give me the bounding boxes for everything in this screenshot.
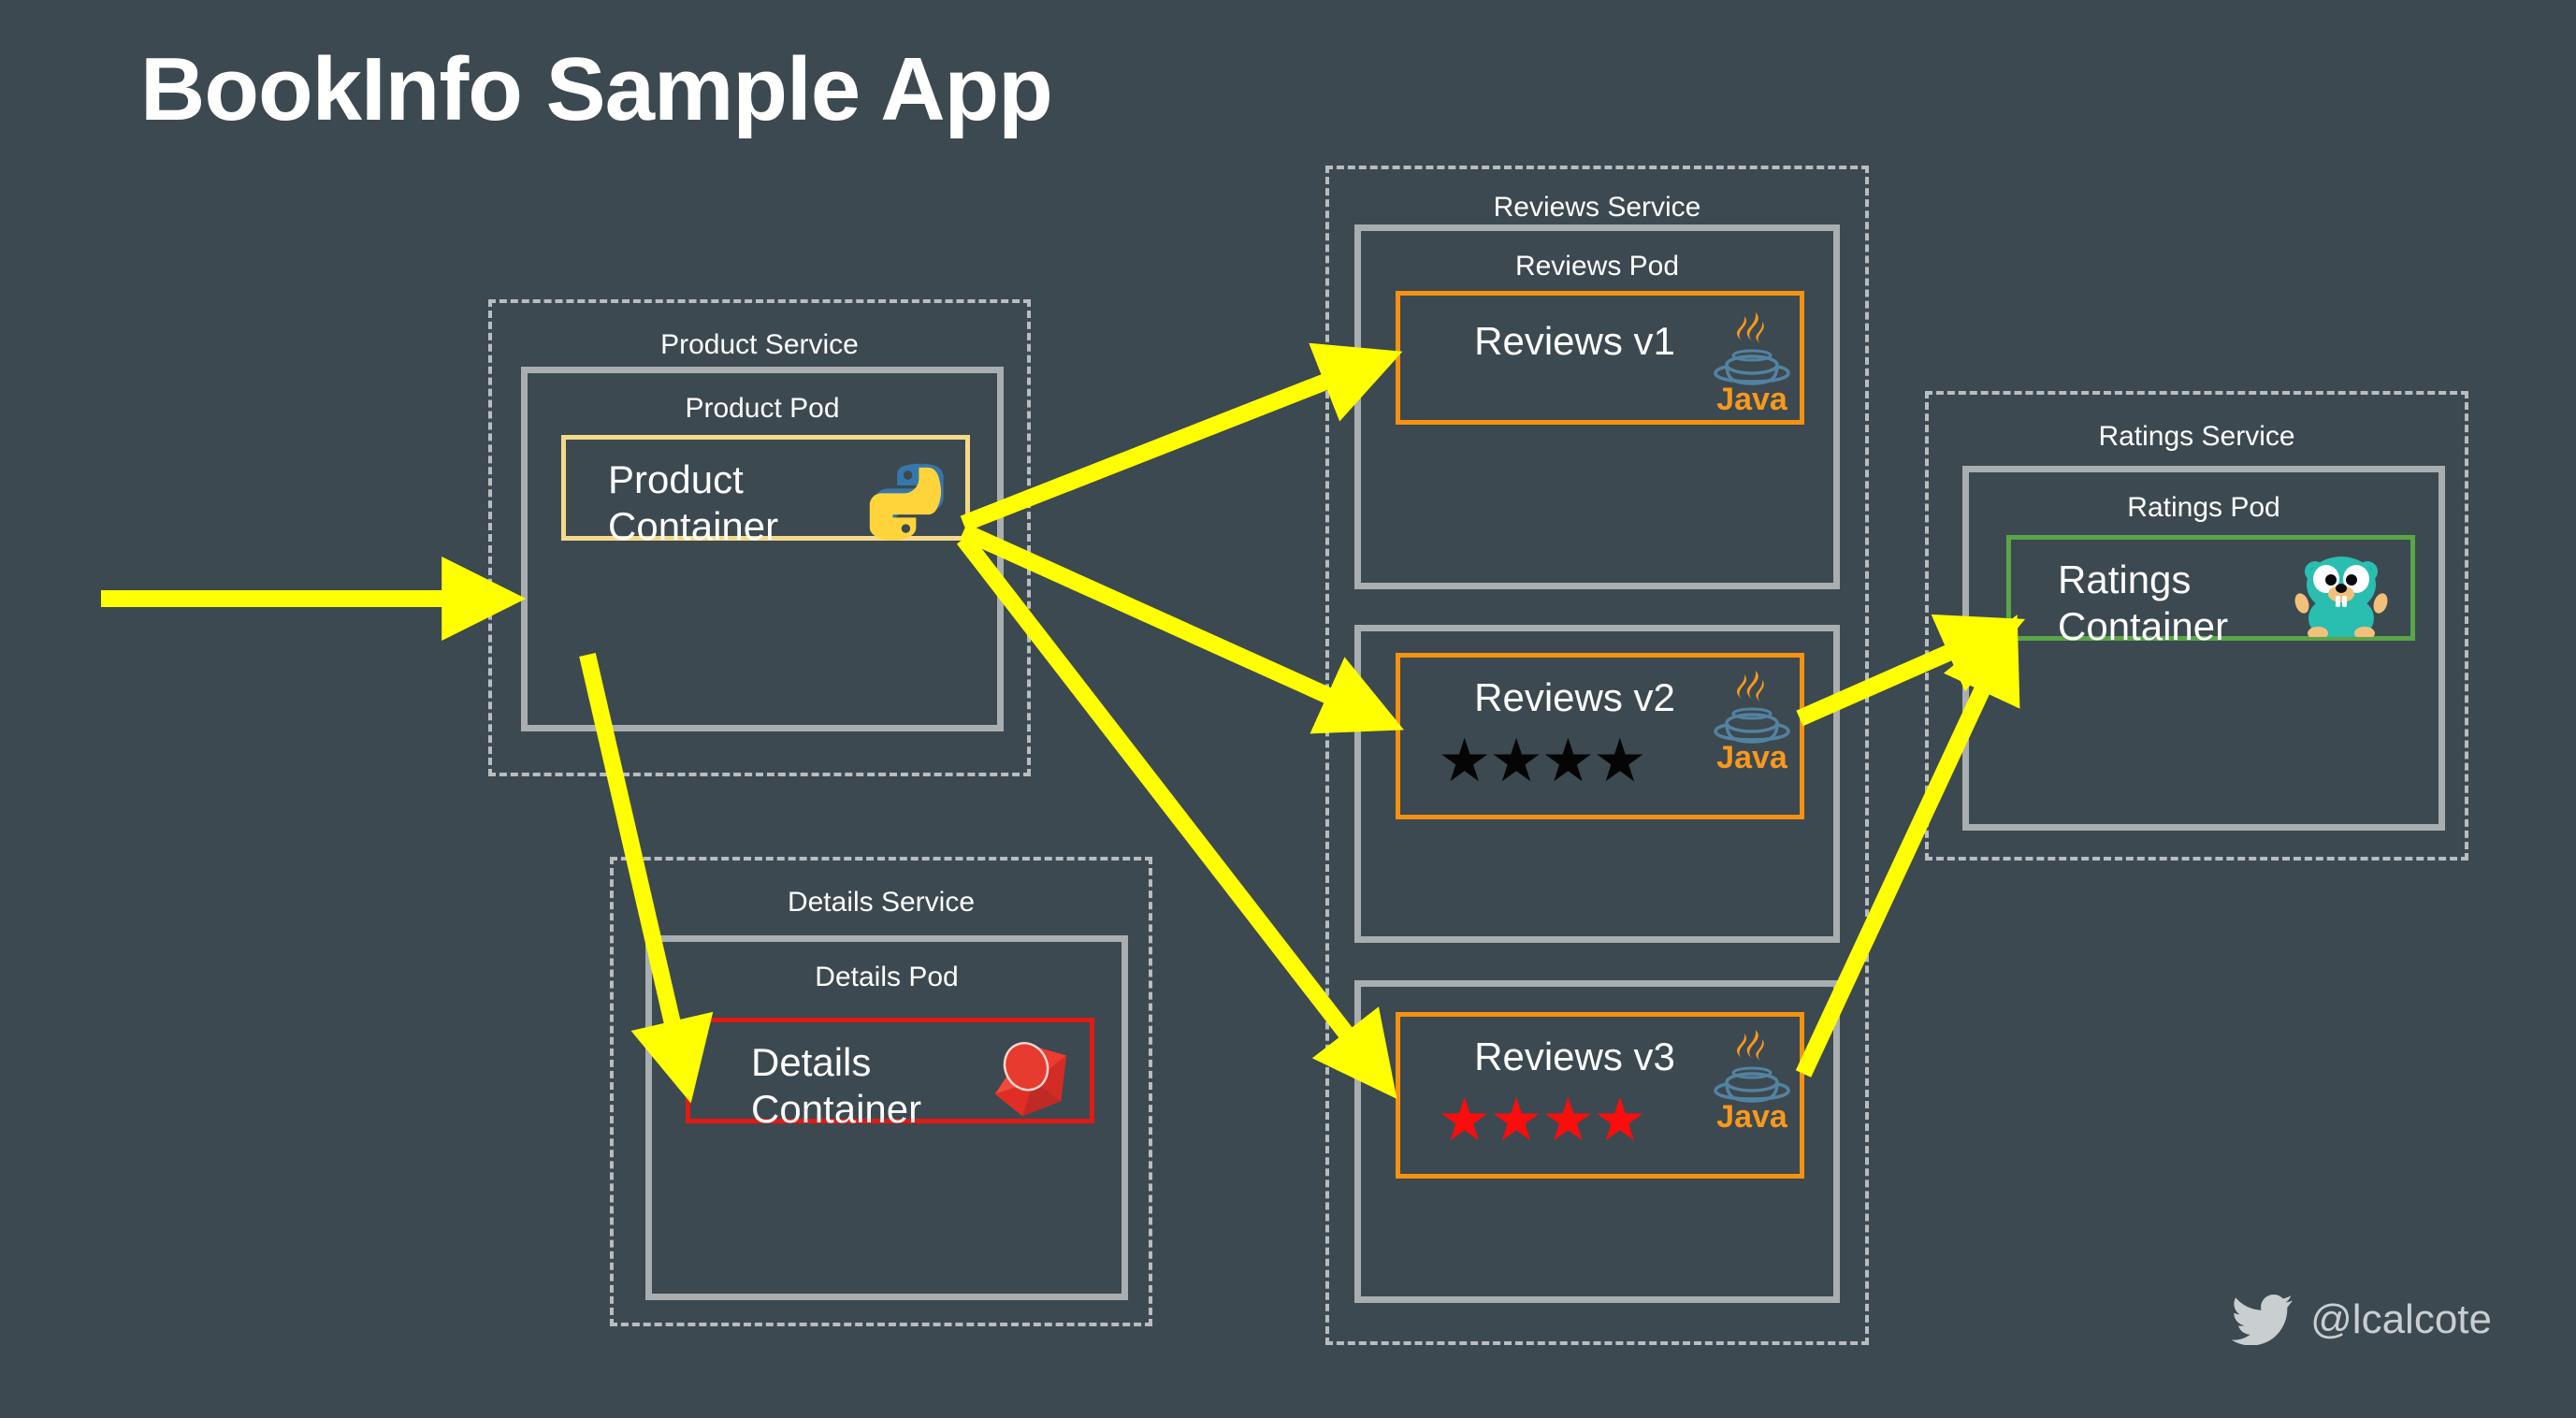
ratings-container-label: Ratings Container [2058,557,2228,649]
java-logo: Java [1709,309,1795,413]
product-pod-label: Product Pod [528,395,997,423]
page-title: BookInfo Sample App [140,45,1052,135]
go-gopher-logo [2292,551,2391,637]
java-logo-text: Java [1716,382,1788,413]
reviews-pod-label: Reviews Pod [1361,253,1833,281]
python-logo [861,456,947,543]
details-pod-label: Details Pod [652,963,1122,991]
product-container-box: Product Container [561,435,970,541]
java-logo: Java [1709,667,1795,772]
ruby-logo [982,1034,1074,1120]
reviews-v1-container-box: Reviews v1 Java [1396,291,1804,425]
reviews-v2-star-rating: ★★★★ [1438,731,1645,790]
reviews-v2-container-box: Reviews v2 ★★★★ Java [1396,653,1804,819]
java-logo-text: Java [1716,1099,1788,1131]
twitter-credit: @lcalcote [2232,1295,2492,1345]
product-service-label: Product Service [492,331,1027,359]
ratings-container-box: Ratings Container [2006,535,2415,641]
reviews-v3-container-box: Reviews v3 ★★★★ Java [1396,1012,1804,1179]
diagram-canvas: BookInfo Sample App Product Service Prod… [0,0,2576,1418]
details-container-box: Details Container [686,1018,1094,1123]
java-logo: Java [1709,1026,1795,1131]
details-container-label: Details Container [751,1039,921,1132]
product-container-label: Product Container [608,456,778,549]
reviews-service-label: Reviews Service [1329,194,1865,222]
reviews-v3-star-rating: ★★★★ [1438,1090,1645,1150]
details-service-label: Details Service [614,889,1149,917]
ratings-pod-label: Ratings Pod [1969,494,2439,522]
twitter-bird-icon [2232,1295,2294,1345]
ratings-service-label: Ratings Service [1929,423,2465,451]
twitter-handle: @lcalcote [2310,1299,2492,1340]
java-logo-text: Java [1716,740,1788,772]
